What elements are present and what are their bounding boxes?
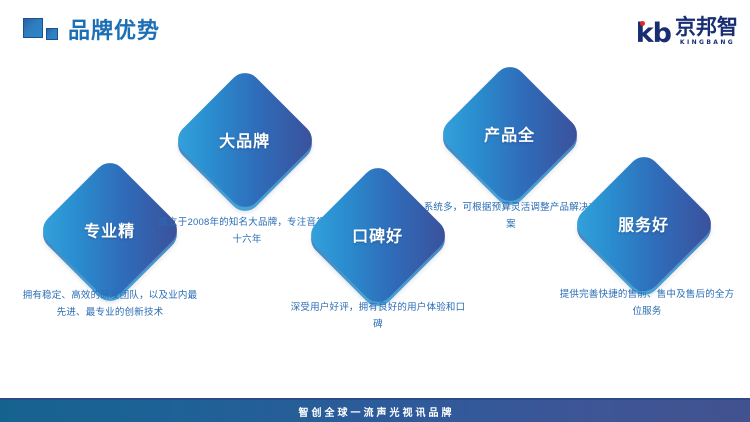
diamond-face: 服务好 <box>570 150 717 297</box>
advantage-label-3: 口碑好 <box>352 223 403 247</box>
advantage-diamond-1[interactable]: 专业精 <box>58 178 162 282</box>
advantage-caption-5: 提供完善快捷的售前、售中及售后的全方位服务 <box>556 286 738 320</box>
page-footer: 智创全球一流声光视讯品牌 <box>0 398 750 422</box>
advantage-diamond-4[interactable]: 产品全 <box>458 82 562 186</box>
advantage-diamond-3[interactable]: 口碑好 <box>326 183 430 287</box>
advantage-caption-3: 深受用户好评，拥有良好的用户体验和口碑 <box>288 299 468 333</box>
advantages-stage: 专业精 拥有稳定、高效的研发团队，以及业内最先进、最专业的创新技术 大品牌 成立… <box>0 0 750 422</box>
footer-slogan: 智创全球一流声光视讯品牌 <box>296 404 455 419</box>
diamond-face: 大品牌 <box>171 66 318 213</box>
advantage-diamond-2[interactable]: 大品牌 <box>193 88 297 192</box>
advantage-label-4: 产品全 <box>484 122 535 146</box>
diamond-face: 产品全 <box>436 60 583 207</box>
advantage-diamond-5[interactable]: 服务好 <box>592 172 696 276</box>
advantage-caption-1: 拥有稳定、高效的研发团队，以及业内最先进、最专业的创新技术 <box>18 287 202 321</box>
advantage-label-2: 大品牌 <box>219 128 270 152</box>
advantage-label-1: 专业精 <box>84 218 135 242</box>
diamond-face: 口碑好 <box>304 161 451 308</box>
advantage-label-5: 服务好 <box>618 212 669 236</box>
advantage-caption-4: 系统多，可根据预算灵活调整产品解决方案 <box>422 199 600 233</box>
